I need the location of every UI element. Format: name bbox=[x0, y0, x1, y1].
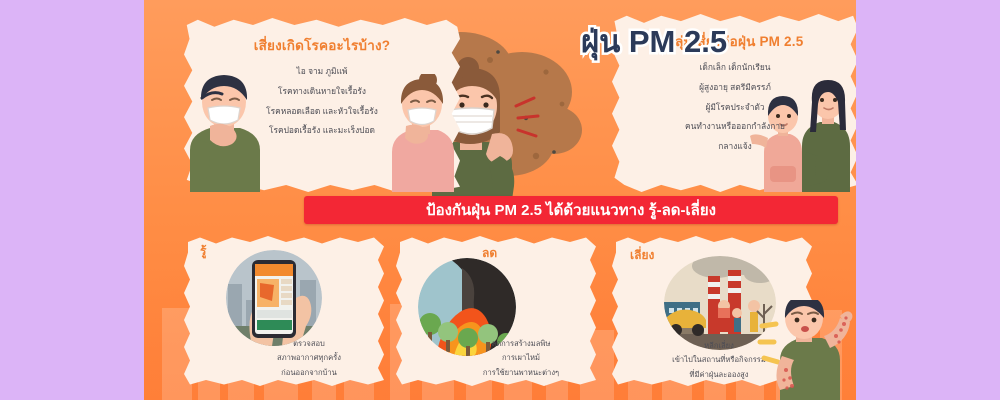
boy-with-mask-illustration bbox=[180, 70, 266, 192]
pregnant-woman-with-child-illustration bbox=[750, 80, 854, 192]
boy-with-rash-illustration bbox=[744, 300, 856, 400]
card-reduce bbox=[396, 236, 596, 386]
infographic-root: เสี่ยงเกิดโรคอะไรบ้าง? ไอ จาม ภูมิแพ้ โร… bbox=[0, 0, 1000, 400]
poster-panel: เสี่ยงเกิดโรคอะไรบ้าง? ไอ จาม ภูมิแพ้ โร… bbox=[144, 0, 856, 400]
prevention-banner: ป้องกันฝุ่น PM 2.5 ได้ด้วยแนวทาง รู้-ลด-… bbox=[304, 196, 838, 224]
page-title: ฝุ่น PM 2.5 bbox=[554, 16, 754, 66]
card-know bbox=[184, 236, 384, 386]
girl-with-mask-illustration bbox=[384, 74, 460, 192]
